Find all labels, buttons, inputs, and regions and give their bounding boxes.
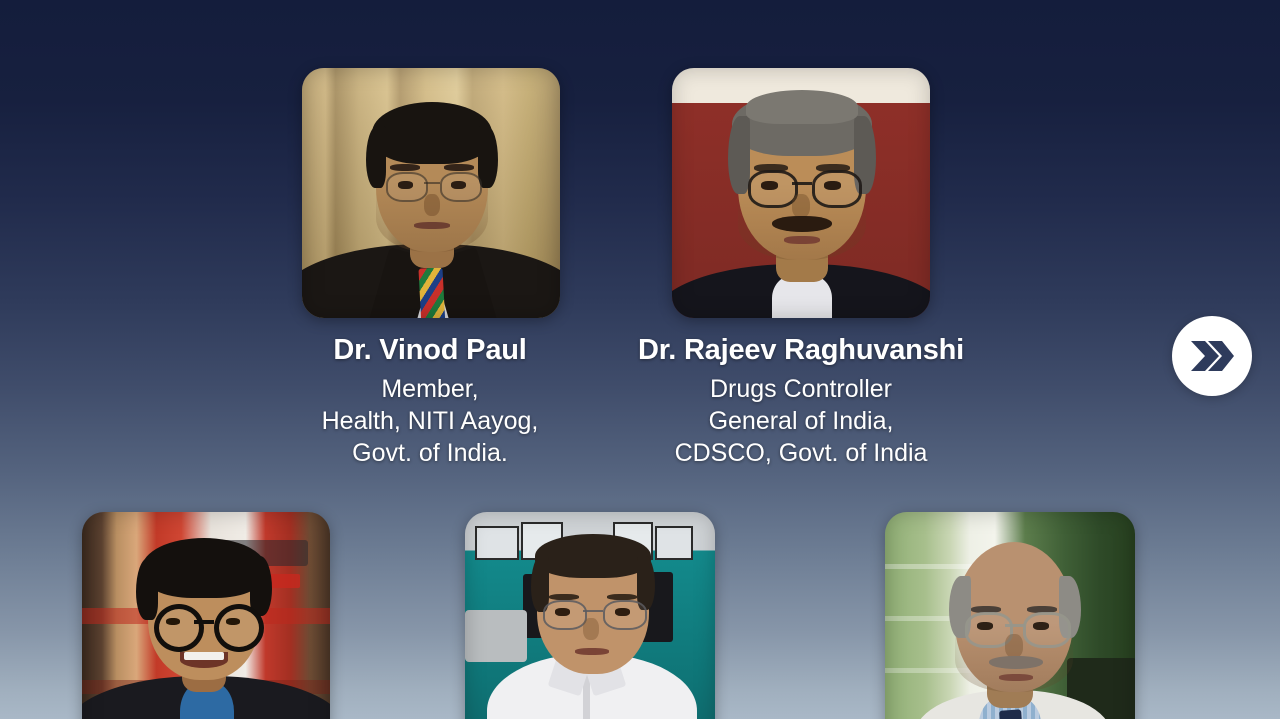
speaker-role: Member, Health, NITI Aayog, Govt. of Ind…	[280, 373, 580, 469]
speaker-photo-vinod-paul[interactable]	[302, 68, 560, 318]
speaker-role: Drugs Controller General of India, CDSCO…	[620, 373, 982, 469]
speaker-role-line: Govt. of India.	[280, 437, 580, 469]
speaker-caption-rajeev-raghuvanshi: Dr. Rajeev Raghuvanshi Drugs Controller …	[620, 331, 982, 469]
next-button[interactable]	[1172, 316, 1252, 396]
speaker-caption-vinod-paul: Dr. Vinod Paul Member, Health, NITI Aayo…	[280, 331, 580, 469]
speaker-role-line: Drugs Controller	[620, 373, 982, 405]
speaker-photo-rajeev-raghuvanshi[interactable]	[672, 68, 930, 318]
speaker-role-line: Member,	[280, 373, 580, 405]
speaker-photo-secondary-2[interactable]	[465, 512, 715, 719]
speaker-role-line: General of India,	[620, 405, 982, 437]
speaker-name: Dr. Rajeev Raghuvanshi	[620, 331, 982, 369]
speakers-slide: Dr. Vinod Paul Member, Health, NITI Aayo…	[0, 0, 1280, 719]
speaker-photo-secondary-1[interactable]	[82, 512, 330, 719]
speaker-role-line: Health, NITI Aayog,	[280, 405, 580, 437]
speaker-role-line: CDSCO, Govt. of India	[620, 437, 982, 469]
speaker-photo-secondary-3[interactable]	[885, 512, 1135, 719]
double-chevron-right-icon	[1189, 339, 1235, 373]
speaker-name: Dr. Vinod Paul	[280, 331, 580, 369]
